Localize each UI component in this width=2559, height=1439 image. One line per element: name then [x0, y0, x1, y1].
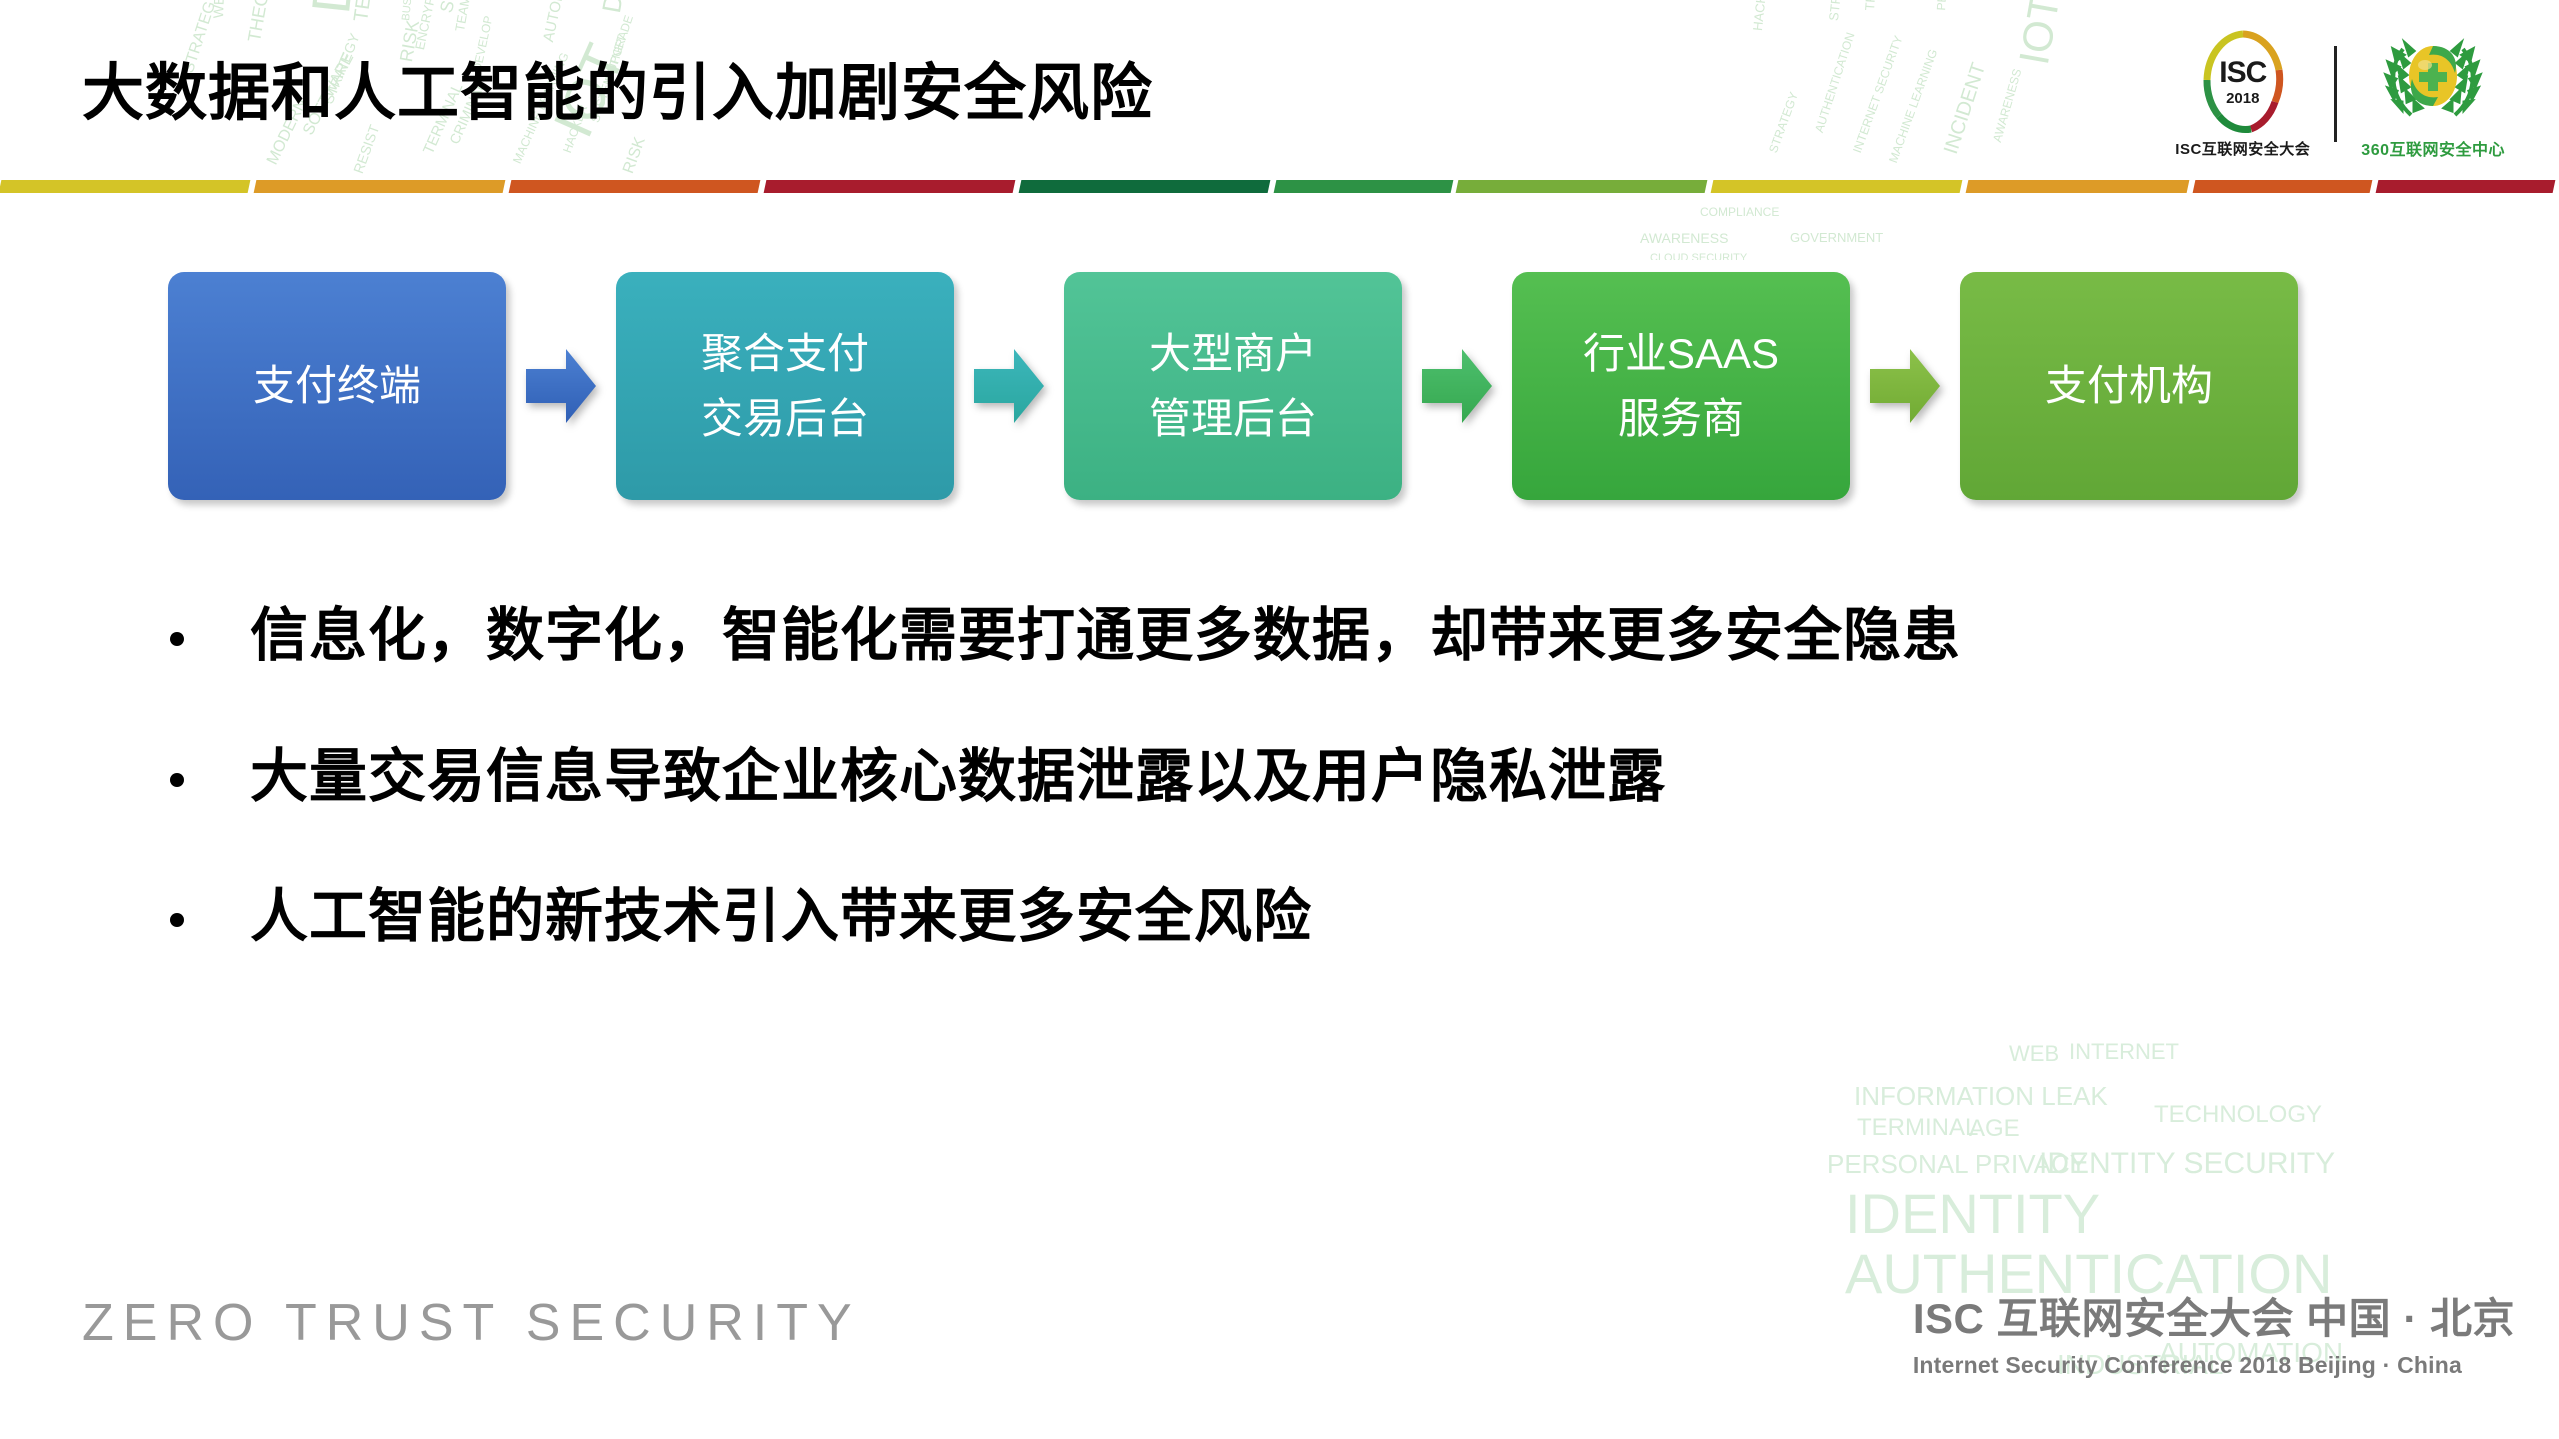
wordcloud-word: STRATEGY [436, 0, 480, 15]
header-logos: ISC 2018 ISC互联网安全大会 [2175, 24, 2505, 164]
footer-brand: ISC 互联网安全大会 中国 · 北京 Internet Security Co… [1913, 1285, 2515, 1379]
wordcloud-word: AGE [1969, 1115, 2020, 1143]
wordcloud-word: TRUST [1862, 0, 1880, 11]
wordcloud-word: RISK [620, 135, 650, 176]
wordcloud-word: STRATEGY [1766, 90, 1801, 155]
divider-segment [1273, 180, 1452, 193]
divider-segment [763, 180, 1015, 193]
wordcloud-word: CLOUD SECURITY [1650, 252, 1747, 260]
divider-segment [509, 180, 761, 193]
wordcloud-word: TERMINAL [1900, 0, 1920, 1]
wordcloud-word: AUTHENTICATION [1812, 31, 1858, 135]
isc-logo-caption: ISC互联网安全大会 [2175, 138, 2310, 159]
wordcloud-word: WEB [2009, 1041, 2059, 1067]
bullet-dot-icon [170, 773, 184, 787]
flow-box-label: 大型商户 [1149, 321, 1317, 386]
flow-box[interactable]: 行业SAAS服务商 [1512, 272, 1850, 500]
flow-box[interactable]: 大型商户管理后台 [1064, 272, 1402, 500]
flow-box-label: 行业SAAS [1583, 321, 1779, 386]
wordcloud-word: PERSONAL PRIVACY [1827, 1149, 2087, 1180]
flow-box-label: 交易后台 [701, 386, 869, 451]
divider-segment [254, 180, 506, 193]
footer-brand-en: Internet Security Conference 2018 Beijin… [1913, 1352, 2515, 1379]
bullet-text: 大量交易信息导致企业核心数据泄露以及用户隐私泄露 [250, 741, 1666, 814]
list-item: 人工智能的新技术引入带来更多安全风险 [170, 881, 1961, 954]
footer-brand-cn: ISC 互联网安全大会 中国 · 北京 [1913, 1285, 2515, 1346]
flow-box-label: 服务商 [1618, 386, 1744, 451]
flow-box[interactable]: 聚合支付交易后台 [616, 272, 954, 500]
s360-logo-caption: 360互联网安全中心 [2361, 136, 2505, 160]
isc-year-text: 2018 [2226, 91, 2259, 106]
wordcloud-word: INTERNET [2069, 1039, 2179, 1065]
wordcloud-word: IDENTITY SECURITY [2039, 1147, 2335, 1181]
isc-mark-text: ISC [2219, 58, 2266, 88]
bullet-text: 信息化，数字化，智能化需要打通更多数据，却带来更多安全隐患 [250, 600, 1961, 673]
flow-arrow-icon [1868, 343, 1942, 429]
wordcloud-word: GOVERNMENT [1790, 230, 1883, 245]
logo-separator [2334, 46, 2337, 142]
wordcloud-word: INCIDENT [1940, 60, 1991, 157]
wordcloud-word: MACHINE LEARNING [1886, 47, 1940, 165]
wordcloud-word: AUTOMATION [540, 0, 577, 44]
wordcloud-word: TECHNOLOGY [2154, 1101, 2322, 1129]
wordcloud-word: HACKER [1750, 0, 1771, 32]
wordcloud-word: TEAMWORK [452, 0, 480, 33]
list-item: 信息化，数字化，智能化需要打通更多数据，却带来更多安全隐患 [170, 600, 1961, 673]
wordcloud-word: TERMINAL [1857, 1114, 1978, 1142]
isc-oval-mark: ISC 2018 [2201, 30, 2285, 134]
isc-conference-logo: ISC 2018 ISC互联网安全大会 [2175, 30, 2310, 159]
flow-box[interactable]: 支付机构 [1960, 272, 2298, 500]
flow-box-label: 聚合支付 [701, 321, 869, 386]
wordcloud-word: INFORMATION LEAK [1854, 1081, 2108, 1112]
divider-segment [2193, 180, 2372, 193]
wordcloud-word: AWARENESS [1990, 67, 2024, 144]
wordcloud-word: RANSOMWARE [1966, 0, 1989, 1]
flow-arrow-icon [972, 343, 1046, 429]
flow-box-label: 管理后台 [1149, 386, 1317, 451]
s360-security-logo: 360互联网安全中心 [2361, 29, 2505, 160]
flow-box[interactable]: 支付终端 [168, 272, 506, 500]
wordcloud-word: STRATEGY [1826, 0, 1848, 22]
flow-box-label: 支付机构 [2045, 353, 2213, 418]
wordcloud-word: WEB [210, 0, 227, 19]
divider-segment [1966, 180, 2189, 193]
zero-trust-watermark: ZERO TRUST SECURITY [82, 1293, 861, 1353]
wordcloud-word: THEORY [244, 0, 278, 44]
wordcloud-word: TECHNOLOGY [350, 0, 392, 23]
divider-segment [2375, 180, 2554, 193]
flow-arrow-icon [524, 343, 598, 429]
wordcloud-word: PERSONAL [1934, 0, 1953, 11]
divider-segment [1711, 180, 1963, 193]
bullet-dot-icon [170, 913, 184, 927]
wordcloud-word: AWARENESS [1640, 230, 1728, 246]
list-item: 大量交易信息导致企业核心数据泄露以及用户隐私泄露 [170, 741, 1961, 814]
wordcloud-word: IDENTITY [1845, 1181, 2100, 1246]
wordcloud-word: BUSINESS [400, 0, 418, 21]
divider-segment [1018, 180, 1270, 193]
wordcloud-word: DATA [596, 0, 638, 15]
flow-arrow-icon [1420, 343, 1494, 429]
bullet-dot-icon [170, 632, 184, 646]
wordcloud-word: TRUST [262, 0, 280, 1]
wordcloud-word: INTERNET SECURITY [1850, 34, 1905, 155]
wordcloud-word: COMPLIANCE [1700, 205, 1779, 219]
page-title: 大数据和人工智能的引入加剧安全风险 [82, 42, 1153, 132]
bullet-list: 信息化，数字化，智能化需要打通更多数据，却带来更多安全隐患大量交易信息导致企业核… [170, 600, 1961, 1022]
laurel-shield-icon [2381, 29, 2485, 133]
color-divider-bar [0, 180, 2559, 193]
wordcloud-word: IOT [2010, 0, 2069, 68]
divider-segment [1456, 180, 1708, 193]
payment-flow-diagram: 支付终端聚合支付交易后台大型商户管理后台行业SAAS服务商支付机构 [168, 272, 2298, 500]
wordcloud-word: DATA [300, 0, 376, 16]
flow-box-label: 支付终端 [253, 353, 421, 418]
bullet-text: 人工智能的新技术引入带来更多安全风险 [250, 881, 1312, 954]
divider-segment [0, 180, 250, 193]
